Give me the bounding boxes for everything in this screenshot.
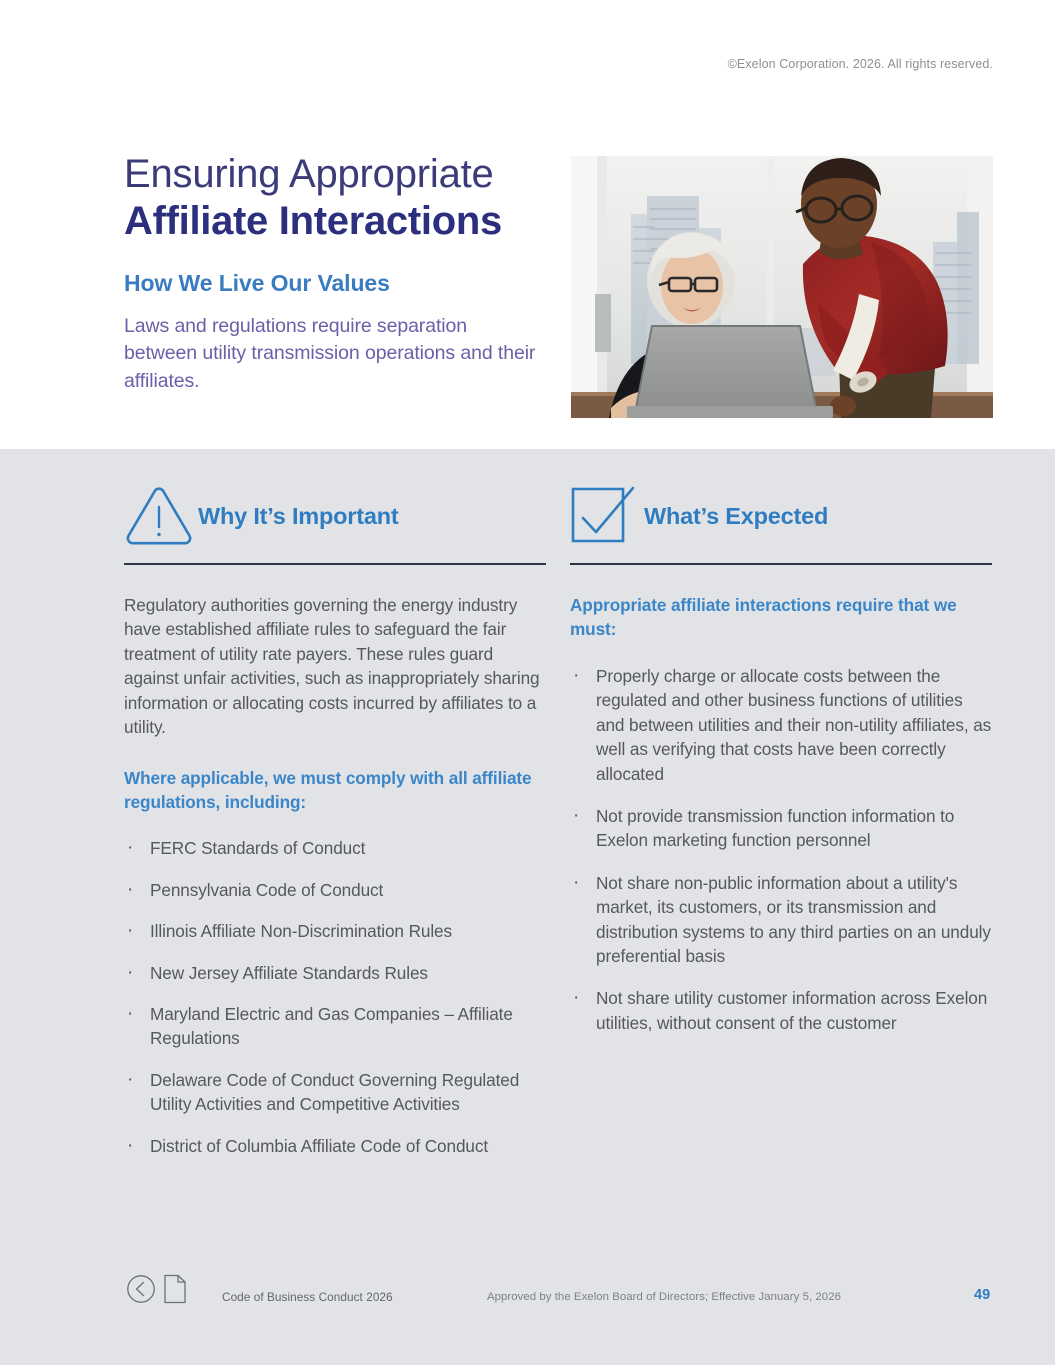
circle-chevron-left-icon[interactable] — [126, 1274, 156, 1309]
warning-triangle-icon — [124, 485, 198, 547]
footer-icon-group — [126, 1274, 187, 1309]
section-title-left: Why It’s Important — [198, 503, 399, 530]
list-item: Not provide transmission function inform… — [570, 804, 992, 853]
left-lead-in: Where applicable, we must comply with al… — [124, 766, 546, 815]
list-item: Not share utility customer information a… — [570, 986, 992, 1035]
right-lead-in: Appropriate affiliate interactions requi… — [570, 593, 992, 642]
section-whats-expected: What’s Expected Appropriate affiliate in… — [570, 480, 992, 1053]
section-header-right: What’s Expected — [570, 480, 992, 552]
document-page-icon[interactable] — [163, 1274, 187, 1309]
office-photo-illustration — [571, 156, 993, 418]
footer-document-label: Code of Business Conduct 2026 — [222, 1290, 393, 1304]
page-title-line-1: Ensuring Appropriate — [124, 152, 544, 197]
hero-text-block: Ensuring Appropriate Affiliate Interacti… — [124, 152, 544, 396]
list-item: District of Columbia Affiliate Code of C… — [124, 1134, 546, 1158]
page-number: 49 — [974, 1287, 990, 1303]
footer-approval-text: Approved by the Exelon Board of Director… — [487, 1291, 841, 1303]
list-item: Properly charge or allocate costs betwee… — [570, 664, 992, 786]
hero-photo — [571, 156, 993, 418]
list-item: Maryland Electric and Gas Companies – Af… — [124, 1002, 546, 1051]
document-page: ©Exelon Corporation. 2026. All rights re… — [0, 0, 1055, 1365]
list-item: FERC Standards of Conduct — [124, 836, 546, 860]
page-title-line-2: Affiliate Interactions — [124, 199, 544, 244]
list-item: New Jersey Affiliate Standards Rules — [124, 961, 546, 985]
list-item: Not share non-public information about a… — [570, 871, 992, 969]
list-item: Delaware Code of Conduct Governing Regul… — [124, 1068, 546, 1117]
section-why-its-important: Why It’s Important Regulatory authoritie… — [124, 480, 546, 1175]
list-item: Illinois Affiliate Non-Discrimination Ru… — [124, 919, 546, 943]
left-bullet-list: FERC Standards of Conduct Pennsylvania C… — [124, 836, 546, 1158]
page-footer: Code of Business Conduct 2026 Approved b… — [0, 1270, 1055, 1322]
section-divider-left — [124, 563, 546, 565]
checkbox-check-icon — [570, 485, 644, 547]
list-item: Pennsylvania Code of Conduct — [124, 878, 546, 902]
section-divider-right — [570, 563, 992, 565]
section-title-right: What’s Expected — [644, 503, 828, 530]
left-paragraph: Regulatory authorities governing the ene… — [124, 593, 546, 740]
copyright-notice: ©Exelon Corporation. 2026. All rights re… — [728, 57, 993, 71]
section-header-left: Why It’s Important — [124, 480, 546, 552]
page-lede-text: Laws and regulations require separation … — [124, 313, 544, 397]
right-bullet-list: Properly charge or allocate costs betwee… — [570, 664, 992, 1035]
page-subheading: How We Live Our Values — [124, 270, 544, 297]
